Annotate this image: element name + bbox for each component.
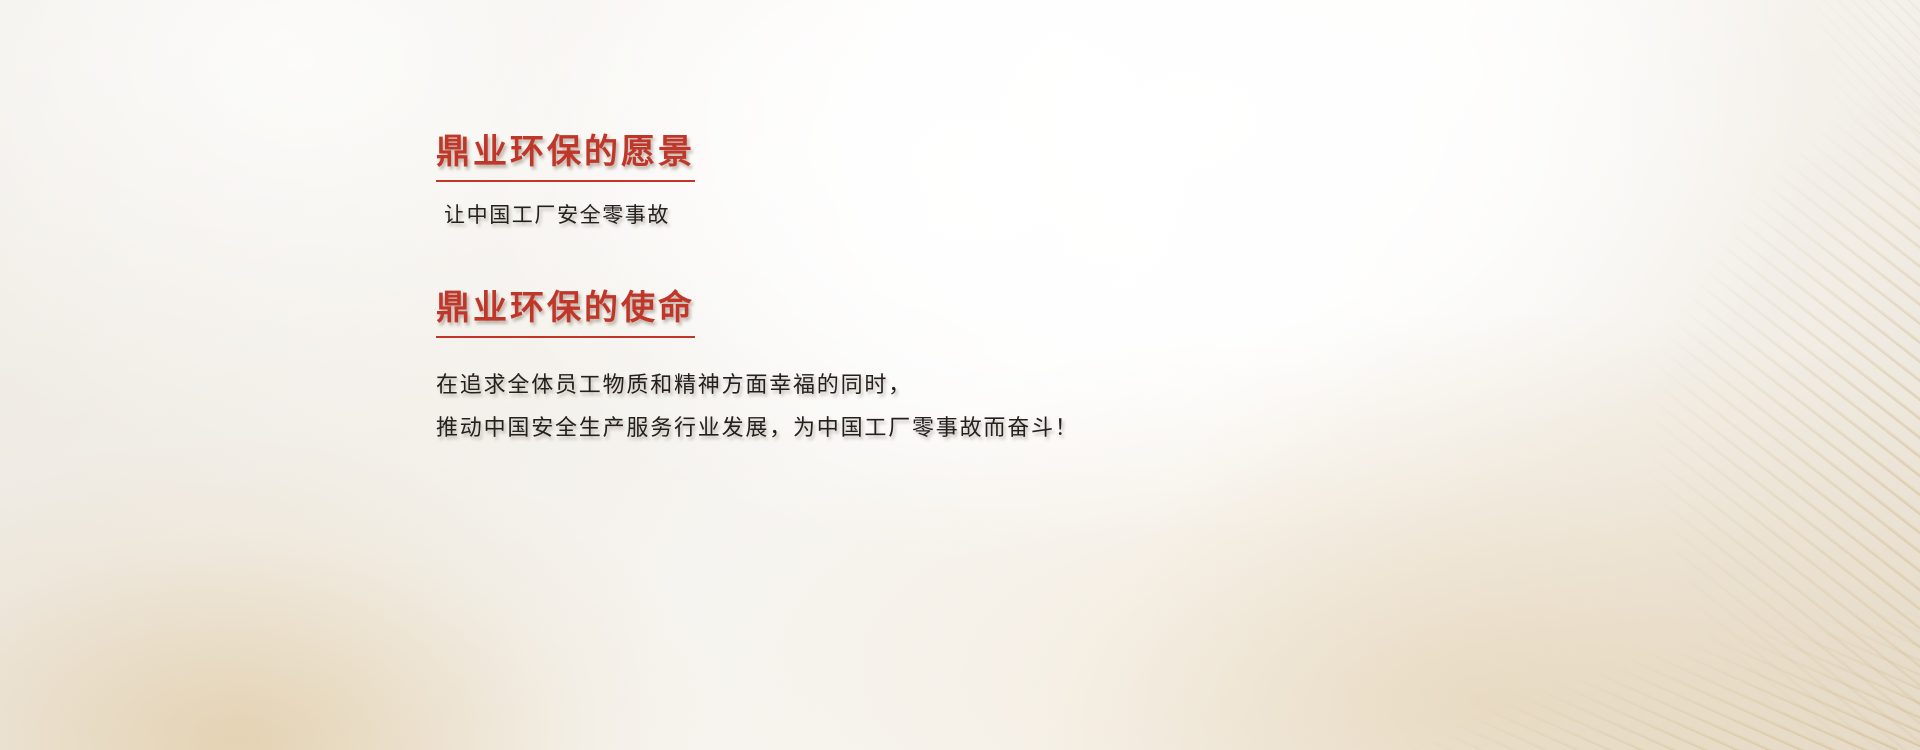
mission-block: 鼎业环保的使命 在追求全体员工物质和精神方面幸福的同时， 推动中国安全生产服务行… [436, 288, 1436, 450]
vision-mission-banner: 鼎业环保的愿景 让中国工厂安全零事故 鼎业环保的使命 在追求全体员工物质和精神方… [0, 0, 1920, 750]
mission-line-1: 在追求全体员工物质和精神方面幸福的同时， [436, 364, 1436, 407]
vision-block: 鼎业环保的愿景 让中国工厂安全零事故 [436, 132, 1436, 232]
mission-heading: 鼎业环保的使命 [436, 288, 695, 338]
mission-line-2: 推动中国安全生产服务行业发展，为中国工厂零事故而奋斗！ [436, 407, 1436, 450]
mission-body: 在追求全体员工物质和精神方面幸福的同时， 推动中国安全生产服务行业发展，为中国工… [436, 364, 1436, 450]
vision-subtitle: 让中国工厂安全零事故 [444, 200, 1436, 232]
vision-heading: 鼎业环保的愿景 [436, 132, 695, 182]
banner-content: 鼎业环保的愿景 让中国工厂安全零事故 鼎业环保的使命 在追求全体员工物质和精神方… [436, 132, 1436, 450]
